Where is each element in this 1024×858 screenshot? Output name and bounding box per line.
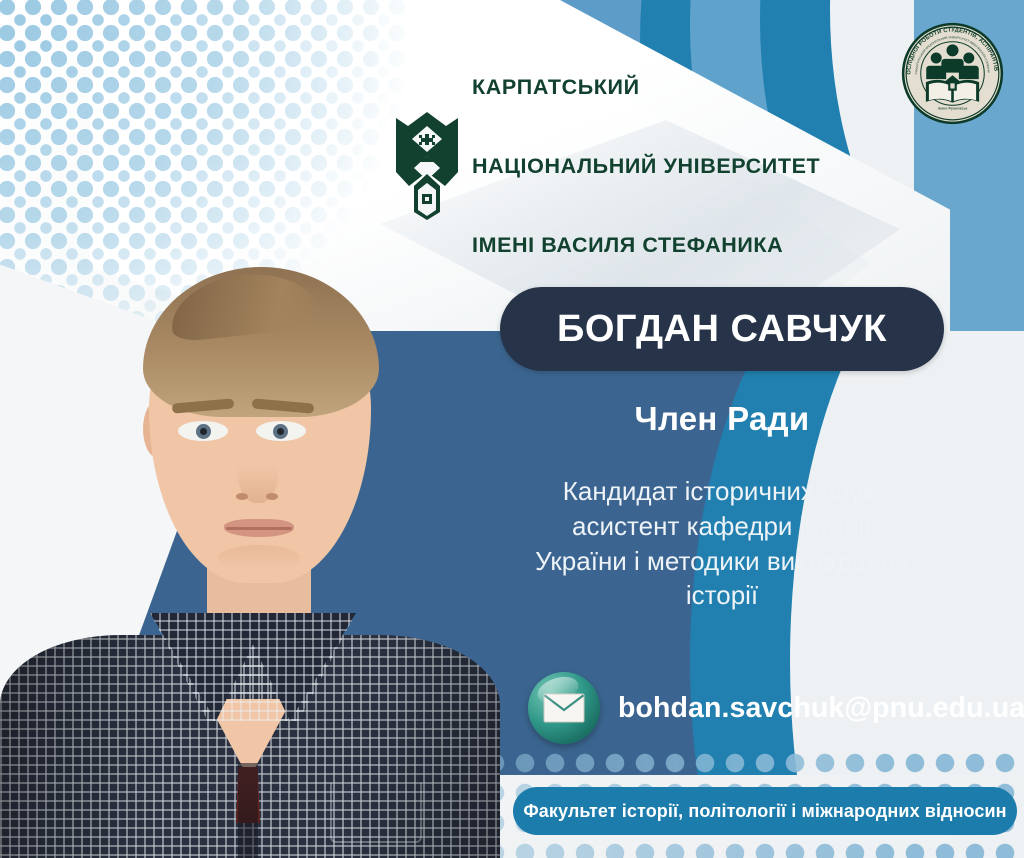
nostril-left	[236, 493, 248, 500]
email-address[interactable]: bohdan.savchuk@pnu.edu.ua	[618, 692, 1024, 725]
university-logo-block: КАРПАТСЬКИЙ НАЦІОНАЛЬНИЙ УНІВЕРСИТЕТ ІМЕ…	[396, 22, 820, 310]
checkered-shirt	[0, 613, 500, 858]
envelope-icon	[528, 672, 600, 744]
pnu-shield-logo-icon	[396, 112, 458, 220]
pupil-left	[200, 428, 207, 435]
profile-card: КАРПАТСЬКИЙ НАЦІОНАЛЬНИЙ УНІВЕРСИТЕТ ІМЕ…	[0, 0, 1024, 858]
person-name-badge: БОГДАН САВЧУК	[500, 287, 944, 371]
faculty-label: Факультет історії, політології і міжнаро…	[523, 801, 1006, 822]
university-name: КАРПАТСЬКИЙ НАЦІОНАЛЬНИЙ УНІВЕРСИТЕТ ІМЕ…	[472, 22, 820, 310]
university-name-line3: ІМЕНІ ВАСИЛЯ СТЕФАНИКА	[472, 232, 820, 258]
person-name: БОГДАН САВЧУК	[557, 308, 887, 351]
shirt-shading	[0, 635, 500, 858]
lip-line	[226, 527, 292, 530]
nostril-right	[266, 493, 278, 500]
person-role: Член Ради	[500, 400, 944, 438]
email-row[interactable]: bohdan.savchuk@pnu.edu.ua	[528, 672, 1024, 744]
person-description: Кандидат історичних наук, асистент кафед…	[524, 474, 920, 613]
chin-shadow	[218, 545, 300, 571]
university-name-line2: НАЦІОНАЛЬНИЙ УНІВЕРСИТЕТ	[472, 153, 820, 179]
faculty-badge: Факультет історії, політології і міжнаро…	[513, 787, 1017, 835]
university-name-line1: КАРПАТСЬКИЙ	[472, 74, 820, 100]
council-seal-icon: РАДА З НАУКОВО-ДОСЛІДНОЇ РОБОТИ СТУДЕНТІ…	[901, 22, 1004, 125]
card-header: КАРПАТСЬКИЙ НАЦІОНАЛЬНИЙ УНІВЕРСИТЕТ ІМЕ…	[0, 0, 1024, 150]
svg-text:Івано-Франківськ: Івано-Франківськ	[938, 107, 968, 111]
pupil-right	[277, 428, 284, 435]
